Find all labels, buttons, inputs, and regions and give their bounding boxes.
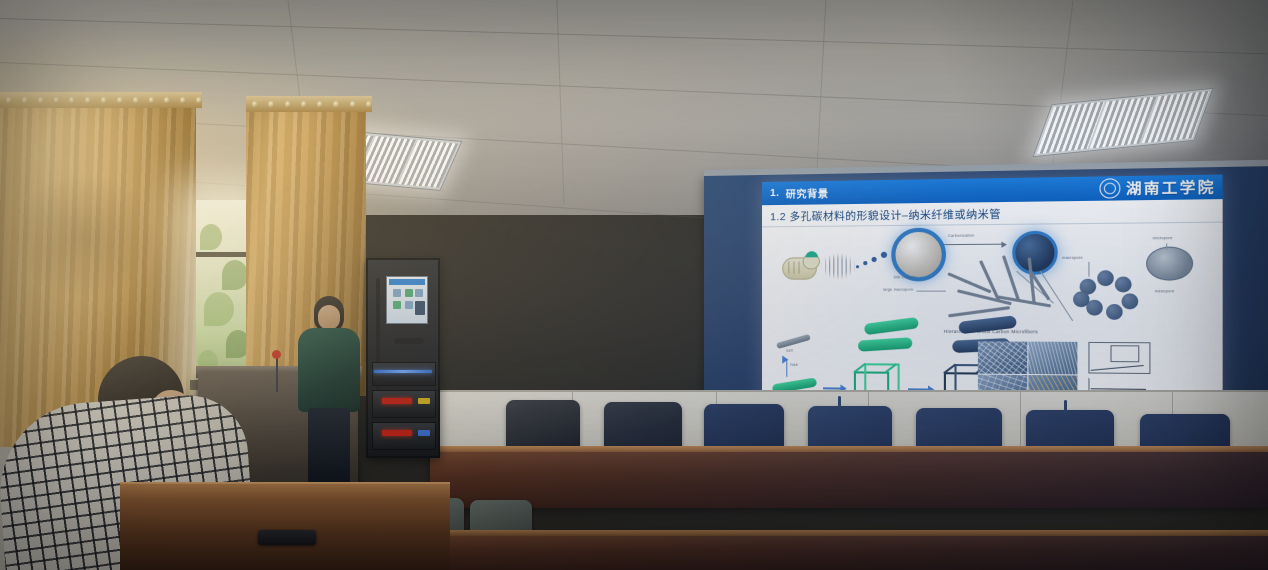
curtain-rod-rings (0, 92, 202, 108)
led-light-strip (374, 370, 432, 373)
carbonized-sphere (1012, 231, 1058, 275)
gooseneck-microphone (276, 356, 278, 392)
silk-cocoon-sphere (891, 228, 946, 282)
microphone-head-icon (272, 350, 281, 359)
silkworm-icon (778, 251, 819, 280)
macropore-cluster (1073, 268, 1146, 323)
label-mesopore: mesopore (1155, 289, 1175, 293)
front-desk (120, 484, 450, 570)
label-carbonization: Carbonization (948, 234, 974, 238)
rack-cable (394, 338, 424, 344)
silk-thread-wave (821, 253, 856, 280)
curtain-rod-rings (246, 96, 372, 112)
label-micropore: micropore (1153, 236, 1173, 240)
curtain-shadow (8, 170, 158, 300)
label-salt: salt (786, 348, 793, 352)
amplifier-indicator (418, 398, 430, 404)
amplifier-display (382, 430, 412, 436)
slide-section-number: 1. (770, 188, 779, 199)
spinning-dots (856, 249, 896, 272)
rack-monitor[interactable] (386, 276, 428, 324)
micropore-blob (1146, 246, 1193, 280)
audio-amplifier[interactable] (372, 422, 436, 450)
smartphone-on-desk (258, 530, 316, 545)
audio-amplifier[interactable] (372, 390, 436, 418)
amplifier-indicator (418, 430, 430, 436)
slide-section-title: 研究背景 (786, 185, 829, 201)
university-logo: 湖南工学院 (1099, 176, 1215, 199)
carbonization-arrow (944, 244, 1006, 246)
presenter-jacket (298, 328, 360, 412)
rack-equipment-unit[interactable] (372, 362, 436, 386)
label-silk-cocoon: Silk Cocoon (893, 275, 915, 279)
university-emblem-icon (1099, 178, 1120, 198)
slide-diagram: Silk Cocoon Carbonization larg (762, 223, 1223, 417)
desk-shadow (430, 452, 1268, 508)
presenter-face (318, 305, 340, 330)
wall-seam (1020, 392, 1021, 452)
label-macropore: macropore (1062, 256, 1083, 260)
label-large-macropore: large macropore (883, 288, 914, 292)
lecture-hall-photo: 1. 研究背景 湖南工学院 1.2 多孔碳材料的形貌设计–纳米纤维或纳米管 (0, 0, 1268, 570)
university-name: 湖南工学院 (1126, 176, 1216, 199)
projected-slide: 1. 研究背景 湖南工学院 1.2 多孔碳材料的形貌设计–纳米纤维或纳米管 (762, 174, 1223, 416)
label-fuse: fuse (790, 363, 798, 367)
auditorium-seat[interactable] (506, 400, 580, 452)
standing-presenter (292, 296, 366, 502)
desk-shadow (330, 536, 1268, 570)
av-equipment-rack[interactable] (366, 258, 440, 458)
amplifier-display (382, 398, 412, 404)
